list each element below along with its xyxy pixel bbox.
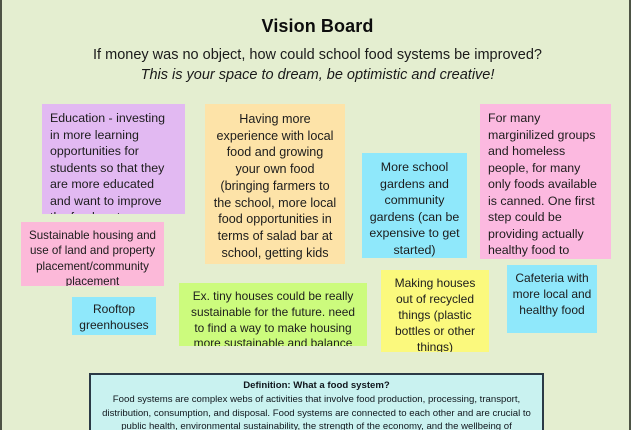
sticky-note-recycled[interactable]: Making houses out of recycled things (pl… [381,270,489,352]
sticky-note-rooftop[interactable]: Rooftop greenhouses [72,297,156,335]
definition-box: Definition: What a food system? Food sys… [89,373,544,430]
sticky-note-marginalized[interactable]: For many marginilized groups and homeles… [480,104,611,259]
sticky-note-local-food[interactable]: Having more experience with local food a… [205,104,345,264]
definition-body: Food systems are complex webs of activit… [98,393,535,430]
sticky-note-gardens[interactable]: More school gardens and community garden… [362,153,467,258]
vision-board-canvas: Vision Board If money was no object, how… [0,0,631,430]
board-prompt: This is your space to dream, be optimist… [2,67,631,83]
sticky-note-cafeteria[interactable]: Cafeteria with more local and healthy fo… [507,265,597,333]
board-question: If money was no object, how could school… [2,47,631,63]
sticky-note-tiny-houses[interactable]: Ex. tiny houses could be really sustaina… [179,283,367,346]
page-title: Vision Board [2,16,631,37]
sticky-note-education[interactable]: Education - investing in more learning o… [42,104,185,214]
sticky-note-housing[interactable]: Sustainable housing and use of land and … [21,222,164,286]
definition-title: Definition: What a food system? [98,380,535,392]
